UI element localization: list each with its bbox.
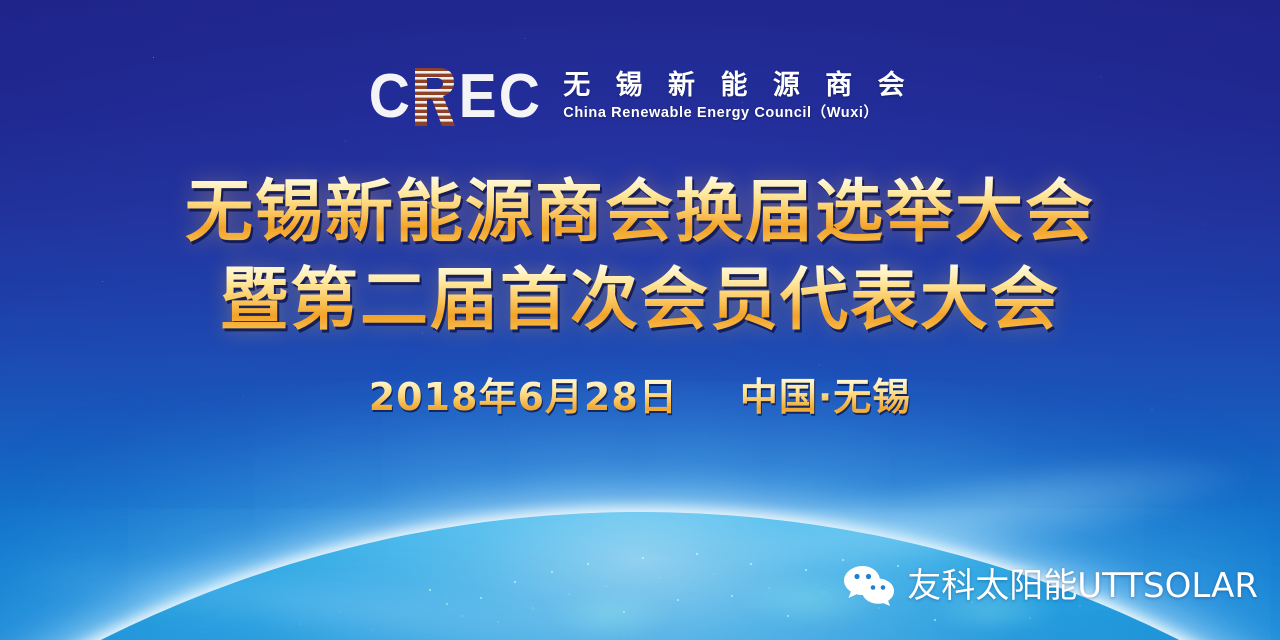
crec-letter-e: E (459, 66, 496, 128)
wechat-account-name: 友科太阳能UTTSOLAR (907, 566, 1258, 606)
poster-canvas: C (0, 0, 1280, 640)
wechat-watermark: 友科太阳能UTTSOLAR (843, 564, 1258, 608)
event-location: 中国·无锡 (740, 374, 911, 420)
title-line-1: 无锡新能源商会换届选举大会 (0, 172, 1280, 254)
crec-logo: C (0, 66, 1280, 128)
poster-title: 无锡新能源商会换届选举大会 暨第二届首次会员代表大会 (0, 172, 1280, 342)
crec-letter-r-striped-icon (412, 66, 456, 128)
organization-name-block: 无 锡 新 能 源 商 会 China Renewable Energy Cou… (563, 70, 912, 124)
crec-acronym: C (367, 66, 541, 128)
crec-letter-c2: C (499, 66, 539, 128)
organization-name-chinese: 无 锡 新 能 源 商 会 (563, 70, 912, 101)
title-line-2: 暨第二届首次会员代表大会 (0, 260, 1280, 342)
wechat-icon (843, 564, 895, 608)
crec-letter-c1: C (369, 66, 409, 128)
event-date: 2018年6月28日 (369, 374, 678, 420)
organization-name-english: China Renewable Energy Council（Wuxi） (563, 104, 912, 122)
event-meta: 2018年6月28日 中国·无锡 (0, 374, 1280, 420)
